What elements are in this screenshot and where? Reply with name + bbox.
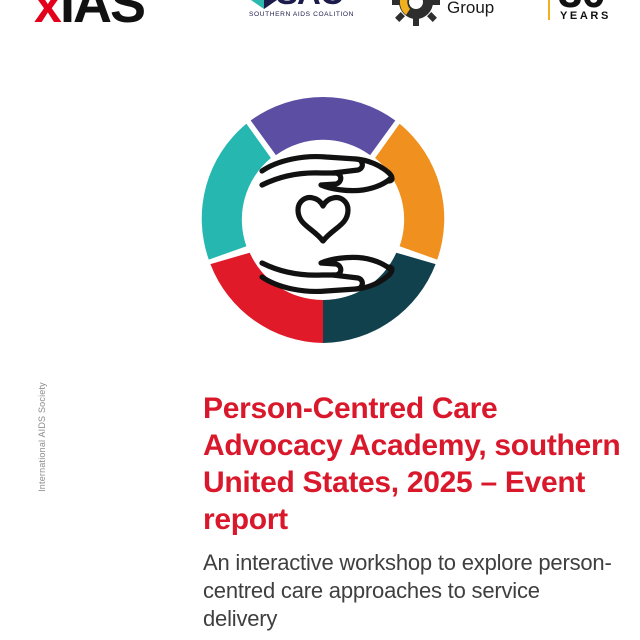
header-logo-strip: x IAS SAC SOUTHERN AIDS COALITION — [0, 0, 640, 42]
southern-aids-coalition-logo: SAC SOUTHERN AIDS COALITION — [248, 0, 368, 40]
education-group-logo: Education Group 30 YEARS — [392, 0, 632, 40]
ring-segments — [202, 97, 445, 343]
ias-logo: x IAS — [34, 0, 204, 36]
ias-wordmark: IAS — [60, 0, 144, 32]
international-aids-society-side-label: International AIDS Society — [37, 367, 47, 507]
teal-segment — [202, 124, 271, 260]
gear-icon — [392, 0, 440, 26]
ias-x-mark-icon: x — [34, 0, 62, 32]
education-group-wordmark: Education Group — [447, 0, 523, 18]
person-centred-care-ring-graphic — [200, 97, 446, 343]
page-subtitle: An interactive workshop to explore perso… — [203, 549, 613, 633]
logo-divider — [548, 0, 550, 20]
anniversary-label: YEARS — [560, 10, 611, 22]
page-title: Person-Centred Care Advocacy Academy, so… — [203, 390, 623, 538]
education-group-line2: Group — [447, 0, 494, 17]
sac-wordmark: SAC — [276, 0, 343, 11]
orange-segment — [375, 124, 444, 260]
purple-segment — [251, 97, 396, 155]
hands-holding-heart-icon — [262, 157, 392, 292]
sac-tagline: SOUTHERN AIDS COALITION — [249, 11, 354, 18]
